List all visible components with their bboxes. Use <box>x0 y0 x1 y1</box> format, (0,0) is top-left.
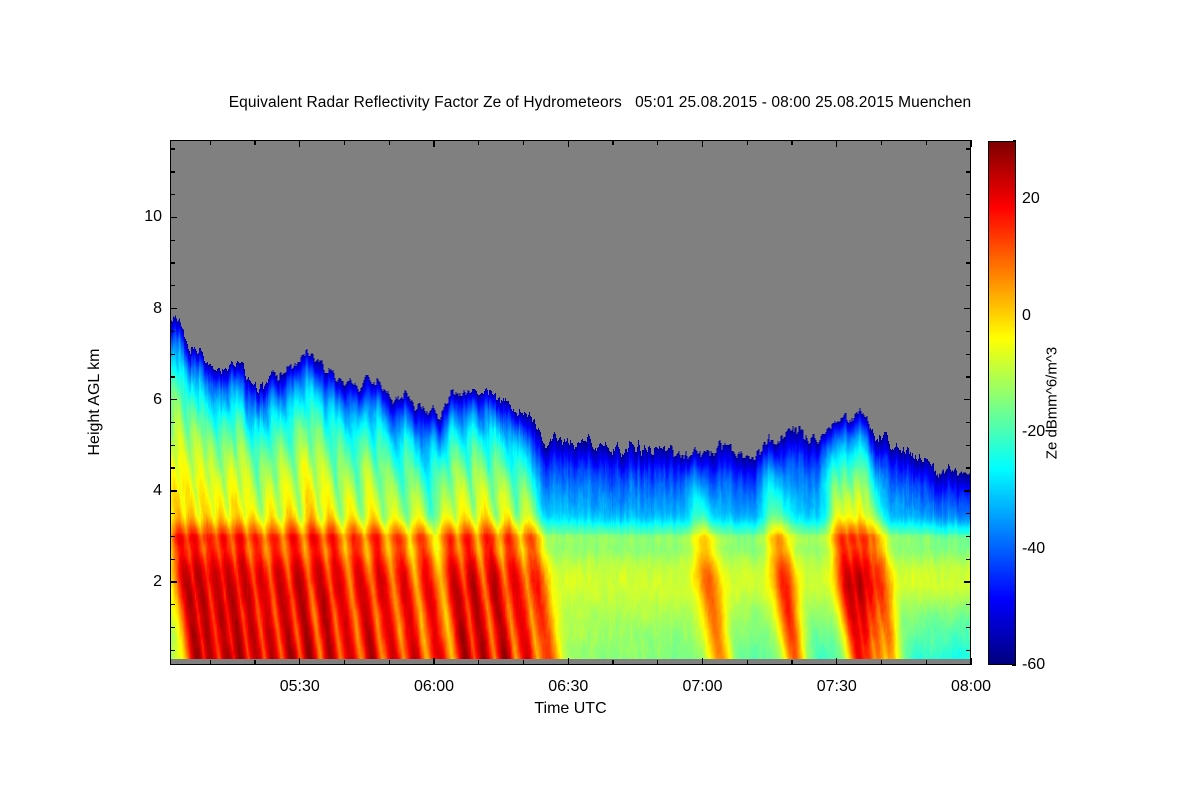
x-tick-minor <box>523 140 524 145</box>
x-tick-major <box>299 658 300 665</box>
y-tick-minor <box>170 604 175 605</box>
y-tick-minor <box>966 627 971 628</box>
x-tick-major <box>970 140 971 147</box>
x-tick-minor <box>612 660 613 665</box>
x-tick-minor <box>344 140 345 145</box>
x-tick-minor <box>478 140 479 145</box>
x-tick-minor <box>657 660 658 665</box>
y-tick-minor <box>170 376 175 377</box>
x-tick-major <box>568 658 569 665</box>
x-tick-minor <box>612 140 613 145</box>
x-tick-label: 06:30 <box>548 679 588 695</box>
x-tick-major <box>433 658 434 665</box>
x-tick-minor <box>210 660 211 665</box>
x-tick-major <box>299 140 300 147</box>
colorbar-tick-label: 0 <box>1022 308 1031 324</box>
y-tick-label: 8 <box>122 301 162 317</box>
y-tick-minor <box>966 331 971 332</box>
y-tick-major <box>964 217 971 218</box>
y-tick-minor <box>966 650 971 651</box>
x-tick-label: 06:00 <box>414 679 454 695</box>
x-tick-label: 08:00 <box>951 679 991 695</box>
y-tick-minor <box>966 536 971 537</box>
x-tick-label: 07:00 <box>682 679 722 695</box>
y-tick-minor <box>170 148 175 149</box>
y-tick-minor <box>170 627 175 628</box>
plot-area <box>170 140 971 665</box>
x-tick-minor <box>523 660 524 665</box>
y-tick-major <box>170 399 177 400</box>
y-tick-major <box>170 217 177 218</box>
x-tick-minor <box>926 660 927 665</box>
figure-title: Equivalent Radar Reflectivity Factor Ze … <box>0 94 1200 112</box>
colorbar-tick-label: -20 <box>1022 424 1045 440</box>
y-tick-minor <box>170 171 175 172</box>
y-tick-minor <box>170 467 175 468</box>
y-tick-minor <box>966 559 971 560</box>
y-tick-label: 6 <box>122 392 162 408</box>
y-tick-minor <box>170 194 175 195</box>
x-tick-minor <box>926 140 927 145</box>
x-tick-major <box>568 140 569 147</box>
x-tick-major <box>970 658 971 665</box>
y-tick-minor <box>966 422 971 423</box>
y-tick-minor <box>170 331 175 332</box>
x-tick-minor <box>791 660 792 665</box>
x-tick-major <box>702 140 703 147</box>
x-axis-title: Time UTC <box>170 700 971 718</box>
y-tick-minor <box>170 262 175 263</box>
x-tick-major <box>836 658 837 665</box>
y-tick-major <box>170 490 177 491</box>
x-tick-minor <box>254 140 255 145</box>
x-tick-minor <box>344 660 345 665</box>
x-tick-minor <box>881 140 882 145</box>
x-tick-minor <box>478 660 479 665</box>
x-tick-minor <box>210 140 211 145</box>
y-tick-major <box>964 581 971 582</box>
y-tick-minor <box>966 604 971 605</box>
y-tick-major <box>964 308 971 309</box>
y-tick-minor <box>170 422 175 423</box>
y-tick-minor <box>966 171 971 172</box>
y-tick-minor <box>170 445 175 446</box>
x-tick-minor <box>791 140 792 145</box>
y-tick-label: 2 <box>122 574 162 590</box>
y-tick-major <box>170 308 177 309</box>
x-tick-label: 07:30 <box>817 679 857 695</box>
y-tick-minor <box>966 445 971 446</box>
x-tick-minor <box>881 660 882 665</box>
x-tick-minor <box>747 660 748 665</box>
y-tick-minor <box>170 536 175 537</box>
x-tick-major <box>836 140 837 147</box>
x-tick-minor <box>747 140 748 145</box>
radar-reflectivity-figure: Equivalent Radar Reflectivity Factor Ze … <box>0 0 1200 800</box>
y-tick-minor <box>966 194 971 195</box>
colorbar-tick-label: -60 <box>1022 657 1045 673</box>
y-tick-label: 4 <box>122 483 162 499</box>
colorbar-gradient <box>989 142 1015 664</box>
x-tick-major <box>702 658 703 665</box>
y-tick-minor <box>170 513 175 514</box>
y-tick-minor <box>170 240 175 241</box>
y-tick-major <box>964 490 971 491</box>
y-axis-title: Height AGL km <box>86 348 104 455</box>
colorbar-tick-label: -40 <box>1022 541 1045 557</box>
x-tick-minor <box>389 660 390 665</box>
y-tick-minor <box>966 285 971 286</box>
reflectivity-heatmap <box>171 141 970 664</box>
y-tick-minor <box>966 262 971 263</box>
x-tick-minor <box>254 660 255 665</box>
y-tick-minor <box>966 376 971 377</box>
y-tick-minor <box>966 467 971 468</box>
y-tick-label: 10 <box>122 209 162 225</box>
y-tick-minor <box>966 513 971 514</box>
y-tick-major <box>964 399 971 400</box>
y-tick-minor <box>170 285 175 286</box>
y-tick-minor <box>966 148 971 149</box>
colorbar <box>988 141 1016 665</box>
y-tick-minor <box>966 354 971 355</box>
y-tick-minor <box>170 650 175 651</box>
y-tick-minor <box>170 559 175 560</box>
x-tick-major <box>433 140 434 147</box>
x-tick-label: 05:30 <box>280 679 320 695</box>
colorbar-title: Ze dBmm^6/m^3 <box>1044 347 1061 459</box>
y-tick-minor <box>966 240 971 241</box>
y-tick-minor <box>170 354 175 355</box>
colorbar-tick-label: 20 <box>1022 191 1040 207</box>
x-tick-minor <box>657 140 658 145</box>
y-tick-major <box>170 581 177 582</box>
x-tick-minor <box>389 140 390 145</box>
